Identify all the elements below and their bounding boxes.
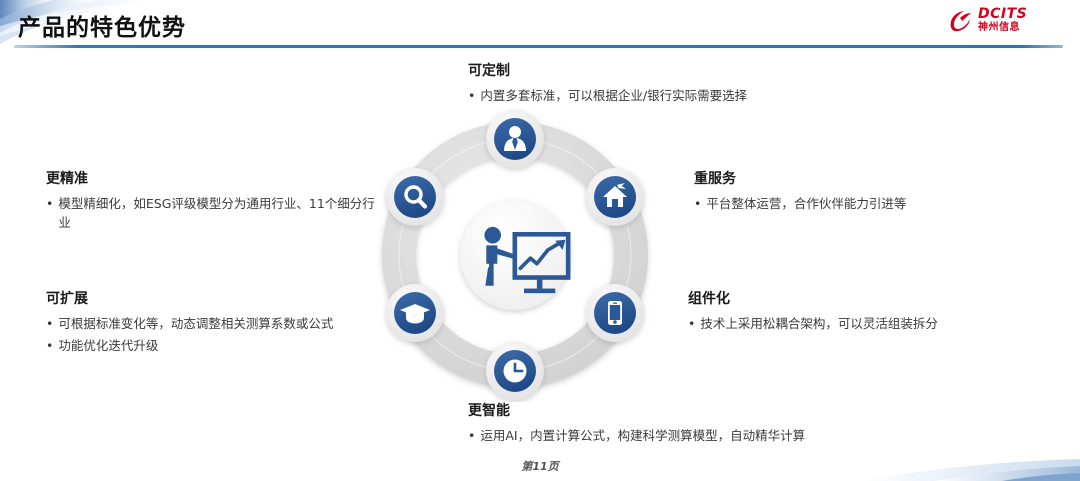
feature-bullet-text: 运用AI，内置计算公式，构建科学测算模型，自动精华计算 (480, 426, 938, 445)
center-core (460, 200, 570, 310)
bullet-marker-icon: • (46, 314, 53, 333)
feature-title: 可扩展 (46, 288, 376, 308)
feature-block-gengjingzhun: 更精准 • 模型精细化，如ESG评级模型分为通用行业、11个细分行业 (46, 168, 376, 236)
badge-search (386, 168, 444, 226)
badge-graduation-cap (386, 284, 444, 342)
bullet-marker-icon: • (46, 336, 53, 355)
logo-english-text: DCITS (978, 7, 1027, 21)
feature-bullet-text: 功能优化迭代升级 (58, 336, 376, 355)
feature-bullet-text: 技术上采用松耦合架构，可以灵活组装拆分 (700, 314, 1028, 333)
bullet-marker-icon: • (468, 426, 475, 445)
page-title: 产品的特色优势 (18, 8, 186, 42)
bullet-marker-icon: • (694, 194, 701, 213)
badge-user (486, 110, 544, 168)
mobile-phone-icon (608, 301, 622, 325)
badge-home (586, 168, 644, 226)
logo-chinese-text: 神州信息 (978, 23, 1027, 33)
feature-bullet-text: 平台整体运营，合作伙伴能力引进等 (706, 194, 1024, 213)
feature-title: 组件化 (688, 288, 1028, 308)
feature-title: 更精准 (46, 168, 376, 188)
slide-header: 产品的特色优势 DCITS 神州信息 (0, 0, 1080, 44)
feature-title: 重服务 (694, 168, 1024, 188)
feature-bullet-text: 模型精细化，如ESG评级模型分为通用行业、11个细分行业 (58, 194, 376, 233)
feature-bullet-text: 可根据标准变化等，动态调整相关测算系数或公式 (58, 314, 376, 333)
badge-mobile-phone (586, 284, 644, 342)
feature-block-gengzhineng: 更智能 • 运用AI，内置计算公式，构建科学测算模型，自动精华计算 (468, 400, 938, 448)
footer-swoosh-decoration (820, 459, 1080, 481)
feature-bullet: • 可根据标准变化等，动态调整相关测算系数或公式 (46, 314, 376, 333)
feature-bullet: • 技术上采用松耦合架构，可以灵活组装拆分 (688, 314, 1028, 333)
slide: 产品的特色优势 DCITS 神州信息 可定制 • 内置多套标准，可以根据企业/银… (0, 0, 1080, 481)
logo-wordmark: DCITS 神州信息 (978, 7, 1027, 33)
feature-bullet: • 平台整体运营，合作伙伴能力引进等 (694, 194, 1024, 213)
feature-bullet: • 内置多套标准，可以根据企业/银行实际需要选择 (468, 86, 888, 105)
feature-bullet: • 功能优化迭代升级 (46, 336, 376, 355)
clock-icon (504, 360, 527, 383)
dcits-mark-icon (948, 9, 974, 33)
bullet-marker-icon: • (46, 194, 53, 213)
feature-block-kedingzhi: 可定制 • 内置多套标准，可以根据企业/银行实际需要选择 (468, 60, 888, 108)
badge-clock (486, 342, 544, 400)
feature-bullet: • 运用AI，内置计算公式，构建科学测算模型，自动精华计算 (468, 426, 938, 445)
hub-and-spoke-diagram (368, 108, 662, 402)
feature-title: 更智能 (468, 400, 938, 420)
feature-block-zujianhua: 组件化 • 技术上采用松耦合架构，可以灵活组装拆分 (688, 288, 1028, 336)
brand-logo: DCITS 神州信息 (948, 6, 1066, 38)
bullet-marker-icon: • (688, 314, 695, 333)
feature-title: 可定制 (468, 60, 888, 80)
feature-block-kekuozhan: 可扩展 • 可根据标准变化等，动态调整相关测算系数或公式 • 功能优化迭代升级 (46, 288, 376, 359)
header-divider-rule (14, 45, 1063, 48)
feature-bullet: • 模型精细化，如ESG评级模型分为通用行业、11个细分行业 (46, 194, 376, 233)
feature-bullet-text: 内置多套标准，可以根据企业/银行实际需要选择 (480, 86, 888, 105)
feature-block-zhongfuwu: 重服务 • 平台整体运营，合作伙伴能力引进等 (694, 168, 1024, 216)
bullet-marker-icon: • (468, 86, 475, 105)
